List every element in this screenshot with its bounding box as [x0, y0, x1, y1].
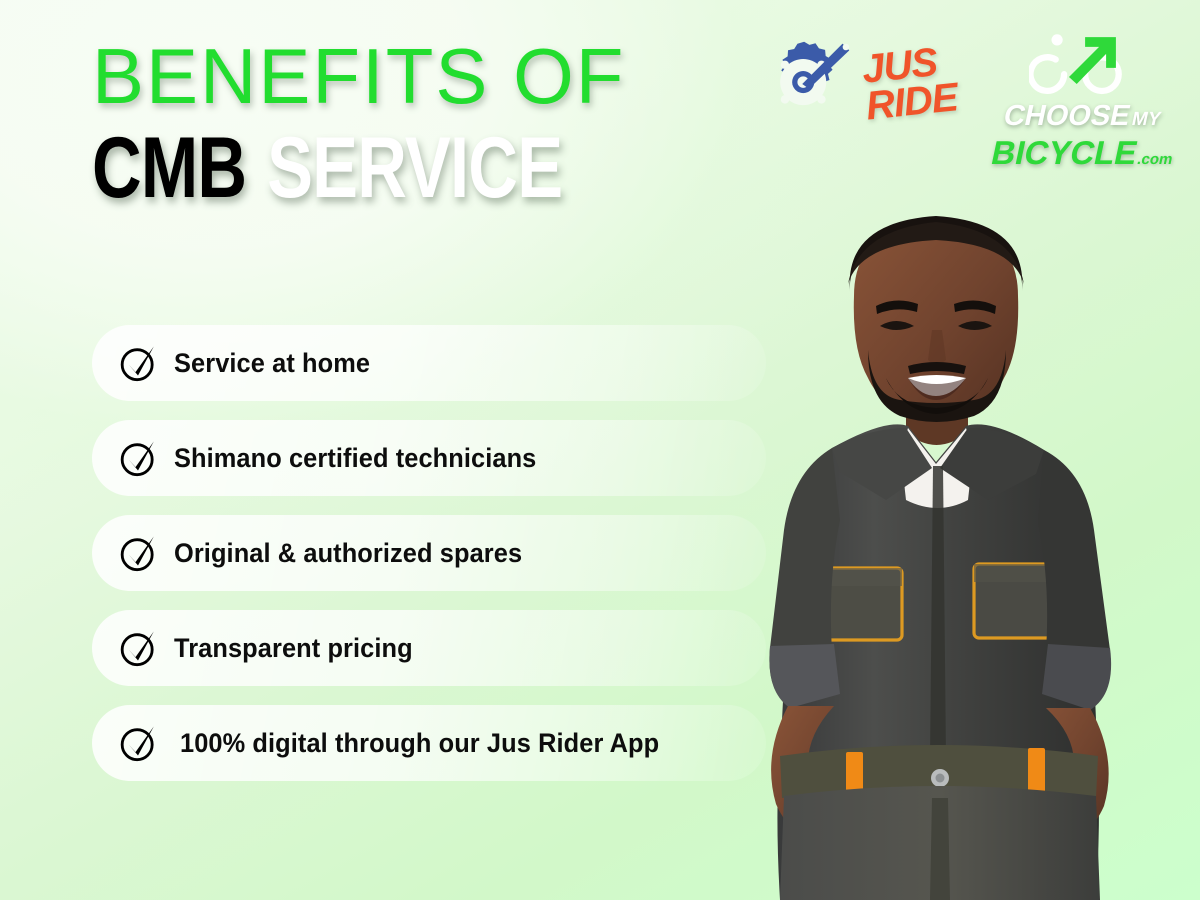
benefit-label-3: Original & authorized spares — [174, 538, 522, 569]
technician-photo — [736, 200, 1200, 900]
logo-group: JUS RIDE CHOOSE MY BICYCLE .c — [760, 26, 1176, 172]
jusride-wordmark: JUS RIDE — [861, 43, 960, 126]
choosemybicycle-logo[interactable]: CHOOSE MY BICYCLE .com — [990, 26, 1176, 172]
logo-text-dotcom: .com — [1136, 151, 1175, 168]
page-title: BENEFITS OF CMBSERVICE — [92, 38, 680, 210]
jusride-line-ride: RIDE — [865, 79, 960, 125]
benefit-row-5[interactable]: 100% digital through our Jus Rider App — [92, 705, 766, 781]
choosemybicycle-wordmark-top: CHOOSE MY — [1001, 100, 1165, 133]
check-circle-icon — [118, 533, 158, 573]
benefit-row-2[interactable]: Shimano certified technicians — [92, 420, 766, 496]
benefit-label-4: Transparent pricing — [174, 633, 413, 664]
benefits-list: Service at home Shimano certified techni… — [92, 325, 766, 781]
logo-text-bicycle: BICYCLE — [988, 134, 1141, 172]
technician-illustration — [736, 200, 1200, 900]
check-circle-icon — [118, 438, 158, 478]
benefit-row-1[interactable]: Service at home — [92, 325, 766, 401]
jusride-logo[interactable]: JUS RIDE — [760, 26, 956, 132]
check-circle-icon — [118, 628, 158, 668]
benefit-row-3[interactable]: Original & authorized spares — [92, 515, 766, 591]
title-line-cmb-service: CMBSERVICE — [92, 126, 562, 210]
benefit-label-1: Service at home — [174, 348, 370, 379]
benefit-row-4[interactable]: Transparent pricing — [92, 610, 766, 686]
choosemybicycle-wordmark-bottom: BICYCLE .com — [988, 134, 1178, 172]
bicycle-arrow-icon — [1029, 28, 1137, 98]
logo-text-choose: CHOOSE — [1001, 100, 1134, 133]
title-word-service: SERVICE — [267, 120, 562, 216]
title-line-benefits-of: BENEFITS OF — [92, 38, 680, 114]
check-circle-icon — [118, 723, 158, 763]
chainring-crank-icon — [760, 36, 856, 132]
benefit-label-2: Shimano certified technicians — [174, 443, 536, 474]
title-brand-cmb: CMB — [92, 120, 246, 216]
benefit-label-5: 100% digital through our Jus Rider App — [180, 728, 659, 759]
check-circle-icon — [118, 343, 158, 383]
poster-canvas: BENEFITS OF CMBSERVICE JUS — [0, 0, 1200, 900]
logo-text-my: MY — [1130, 109, 1163, 131]
